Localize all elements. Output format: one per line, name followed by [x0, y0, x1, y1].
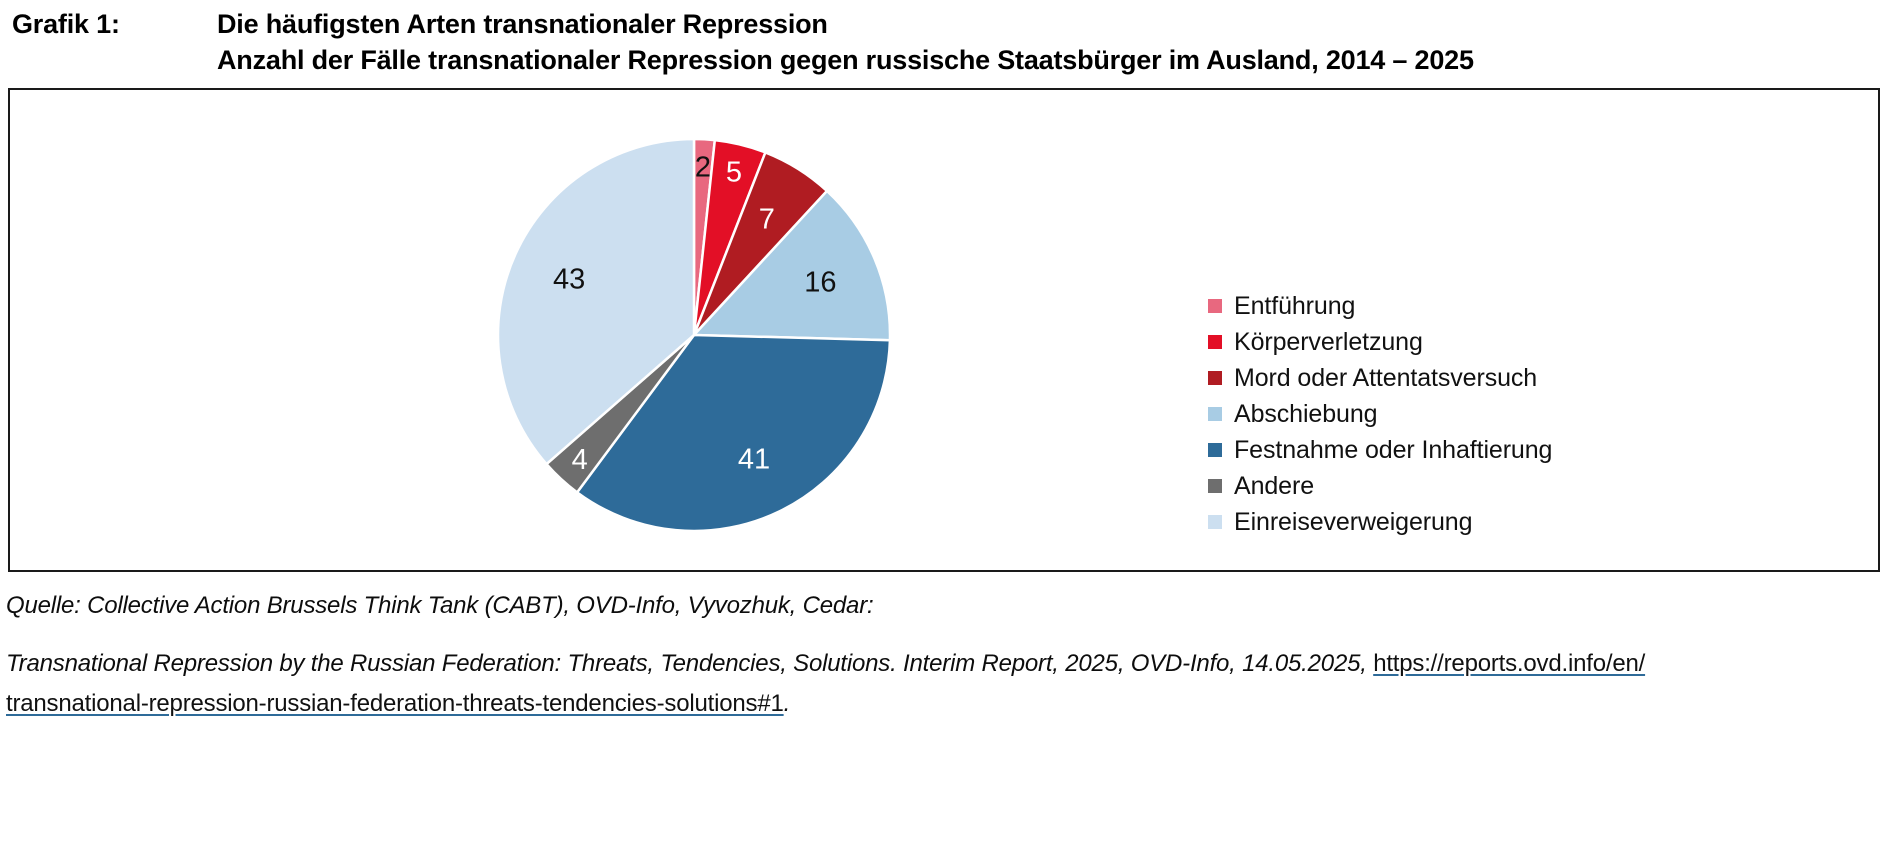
legend-item-label: Andere	[1234, 471, 1314, 501]
figure-number-label: Grafik 1:	[12, 6, 217, 42]
source-block: Quelle: Collective Action Brussels Think…	[6, 586, 1886, 724]
legend-item-koerperverletzung[interactable]: Körperverletzung	[1208, 324, 1668, 360]
pie-slice-value-label: 16	[804, 267, 836, 299]
legend-item-label: Festnahme oder Inhaftierung	[1234, 435, 1552, 465]
source-citation-text: Transnational Repression by the Russian …	[6, 650, 1373, 677]
legend-swatch-icon	[1208, 479, 1222, 493]
plot-area: 2571641443 Entführung Körperverletzung M…	[10, 90, 1878, 570]
pie-slice-value-label: 41	[738, 443, 770, 475]
legend-item-andere[interactable]: Andere	[1208, 468, 1668, 504]
source-line-2: Transnational Repression by the Russian …	[6, 644, 1886, 684]
pie-slice-value-label: 2	[695, 152, 711, 184]
source-url-part-2[interactable]: transnational-repression-russian-federat…	[6, 690, 784, 717]
legend-item-festnahme-oder-inhaftierung[interactable]: Festnahme oder Inhaftierung	[1208, 432, 1668, 468]
pie-chart-svg: 2571641443	[494, 135, 894, 535]
legend-swatch-icon	[1208, 443, 1222, 457]
legend-item-entfuehrung[interactable]: Entführung	[1208, 288, 1668, 324]
pie-slices-group	[498, 139, 890, 531]
source-line-1: Quelle: Collective Action Brussels Think…	[6, 586, 1886, 626]
legend-item-label: Abschiebung	[1234, 399, 1377, 429]
legend-item-label: Mord oder Attentatsversuch	[1234, 363, 1537, 393]
legend-item-einreiseverweigerung[interactable]: Einreiseverweigerung	[1208, 504, 1668, 540]
source-line-3: transnational-repression-russian-federat…	[6, 684, 1886, 724]
chart-title-block: Grafik 1: Die häufigsten Arten transnati…	[12, 6, 1878, 78]
chart-frame: 2571641443 Entführung Körperverletzung M…	[8, 88, 1880, 572]
legend-swatch-icon	[1208, 335, 1222, 349]
chart-title: Die häufigsten Arten transnationaler Rep…	[217, 6, 828, 42]
pie-chart: 2571641443	[494, 135, 894, 535]
legend-swatch-icon	[1208, 515, 1222, 529]
title-line-1: Grafik 1: Die häufigsten Arten transnati…	[12, 6, 1878, 42]
legend-swatch-icon	[1208, 407, 1222, 421]
legend-swatch-icon	[1208, 299, 1222, 313]
pie-slice-value-label: 5	[726, 156, 742, 188]
legend-item-label: Einreiseverweigerung	[1234, 507, 1472, 537]
legend-item-label: Entführung	[1234, 291, 1355, 321]
pie-slice-value-label: 43	[553, 263, 585, 295]
legend-swatch-icon	[1208, 371, 1222, 385]
pie-slice-value-label: 7	[759, 204, 775, 236]
source-url-period: .	[784, 690, 790, 717]
chart-subtitle: Anzahl der Fälle transnationaler Repress…	[217, 42, 1474, 78]
legend-item-label: Körperverletzung	[1234, 327, 1423, 357]
legend-item-abschiebung[interactable]: Abschiebung	[1208, 396, 1668, 432]
legend-item-mord-oder-attentatsversuch[interactable]: Mord oder Attentatsversuch	[1208, 360, 1668, 396]
pie-slice-value-label: 4	[572, 444, 588, 476]
title-line-2: Anzahl der Fälle transnationaler Repress…	[12, 42, 1878, 78]
source-url-part-1[interactable]: https://reports.ovd.info/en/	[1373, 650, 1645, 677]
chart-legend: Entführung Körperverletzung Mord oder At…	[1208, 288, 1668, 540]
